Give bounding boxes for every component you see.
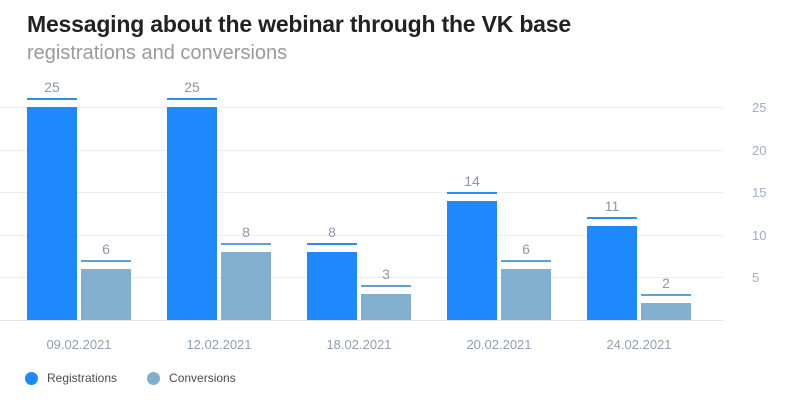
bar-conversions[interactable]	[501, 269, 551, 320]
x-axis-tick-label: 18.02.2021	[299, 338, 419, 351]
bar-value-label: 2	[633, 276, 699, 290]
chart-legend: RegistrationsConversions	[25, 372, 236, 385]
chart-header: Messaging about the webinar through the …	[27, 10, 727, 66]
x-axis: 09.02.202112.02.202118.02.202120.02.2021…	[0, 338, 723, 358]
y-axis-tick-label: 25	[752, 101, 766, 114]
bar-conversions[interactable]	[221, 252, 271, 320]
bar-conversions[interactable]	[641, 303, 691, 320]
bar-value-underline	[641, 294, 691, 296]
bar-conversions[interactable]	[361, 294, 411, 320]
bar-registrations[interactable]	[27, 107, 77, 320]
y-axis-tick-label: 5	[752, 271, 759, 284]
legend-item-registrations[interactable]: Registrations	[25, 372, 117, 385]
y-axis-tick-label: 15	[752, 186, 766, 199]
legend-swatch-icon	[25, 372, 38, 385]
bar-value-underline	[361, 285, 411, 287]
chart-subtitle: registrations and conversions	[27, 40, 727, 66]
bar-value-label: 6	[493, 242, 559, 256]
bar-registrations[interactable]	[307, 252, 357, 320]
x-axis-tick-label: 12.02.2021	[159, 338, 279, 351]
bar-value-label: 8	[213, 225, 279, 239]
bar-value-underline	[167, 98, 217, 100]
x-axis-tick-label: 24.02.2021	[579, 338, 699, 351]
x-axis-tick-label: 09.02.2021	[19, 338, 139, 351]
bar-value-underline	[221, 243, 271, 245]
y-axis-tick-label: 10	[752, 229, 766, 242]
bar-value-underline	[307, 243, 357, 245]
legend-label: Conversions	[169, 372, 236, 385]
plot-area: 25625883146112	[0, 95, 796, 323]
x-axis-tick-label: 20.02.2021	[439, 338, 559, 351]
bar-registrations[interactable]	[447, 201, 497, 320]
bar-conversions[interactable]	[81, 269, 131, 320]
bar-value-label: 25	[19, 80, 85, 94]
bar-value-label: 6	[73, 242, 139, 256]
y-axis-tick-label: 20	[752, 144, 766, 157]
bar-value-label: 3	[353, 267, 419, 281]
legend-item-conversions[interactable]: Conversions	[147, 372, 236, 385]
bar-value-underline	[447, 192, 497, 194]
bar-registrations[interactable]	[587, 226, 637, 320]
bar-value-underline	[81, 260, 131, 262]
chart-title: Messaging about the webinar through the …	[27, 10, 727, 39]
legend-swatch-icon	[147, 372, 160, 385]
bar-value-underline	[501, 260, 551, 262]
bar-value-label: 25	[159, 80, 225, 94]
bar-value-label: 8	[299, 225, 365, 239]
legend-label: Registrations	[47, 372, 117, 385]
bar-registrations[interactable]	[167, 107, 217, 320]
bar-value-underline	[27, 98, 77, 100]
bar-value-label: 14	[439, 174, 505, 188]
bar-value-label: 11	[579, 199, 645, 213]
chart-container: Messaging about the webinar through the …	[0, 0, 796, 410]
bar-value-underline	[587, 217, 637, 219]
bars-layer: 25625883146112	[0, 95, 723, 321]
